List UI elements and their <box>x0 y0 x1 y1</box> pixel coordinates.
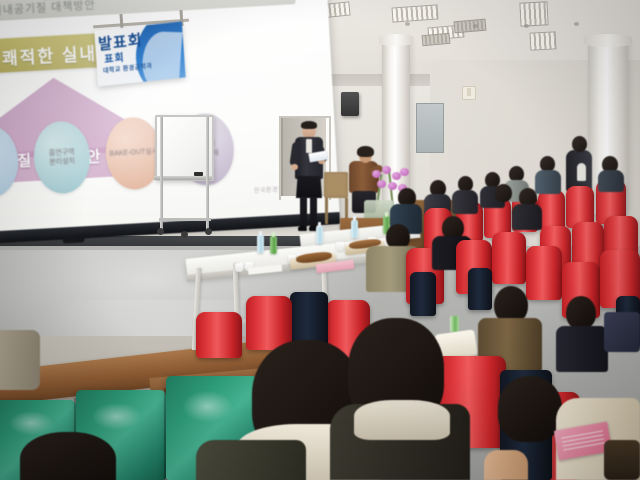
ceiling-fitting <box>524 24 529 28</box>
auditorium-photo: 실내공기질 대책방안 쾌적한 실내환경 실내공기질 대책방안 환기 시설 흡연구… <box>0 0 640 480</box>
ceiling-fitting <box>405 22 410 26</box>
attendee-head <box>566 296 596 330</box>
whiteboard-leg <box>206 117 209 229</box>
presenter-hair <box>301 121 317 129</box>
whiteboard-caster <box>157 228 164 235</box>
attendee-torso <box>452 190 478 214</box>
flyer-text-lines <box>562 430 605 451</box>
ceiling-light <box>392 4 439 22</box>
ceiling-fitting <box>473 24 478 28</box>
wall-panel <box>416 103 444 153</box>
presenter-left-hand <box>291 164 298 170</box>
standing-attendee-head <box>572 136 587 152</box>
whiteboard-caster <box>181 231 188 238</box>
drink-can <box>450 316 459 332</box>
attendee-sleeve <box>0 330 40 390</box>
slide-header-text: 실내공기질 대책방안 <box>0 0 96 18</box>
auditorium-seat <box>246 296 292 350</box>
front-attendee-coat <box>196 440 306 480</box>
attendee-dark-item <box>604 440 640 480</box>
auditorium-seat <box>492 232 526 284</box>
front-attendee-head <box>20 432 116 480</box>
sherpa-collar <box>354 400 450 440</box>
patterned-bag <box>604 312 640 352</box>
wall-banner: 발표회 표회 대학교 환경공학과 <box>94 21 185 86</box>
auditorium-seat <box>196 312 242 358</box>
presenter-shoe <box>298 226 307 231</box>
whiteboard-leg <box>160 117 163 229</box>
ceiling-fitting <box>574 22 579 26</box>
water-bottle <box>351 220 358 238</box>
standing-attendee-paper <box>577 163 586 181</box>
water-bottle <box>316 226 323 244</box>
whiteboard-crossbar <box>159 218 211 221</box>
presenter-leg <box>300 197 307 227</box>
slide-oval-3-label: BAKE-OUT실시 <box>109 147 158 159</box>
pillar-left-capital <box>379 34 413 46</box>
water-bottle <box>270 236 277 254</box>
attendee-torso <box>598 170 624 192</box>
attendee-torso <box>535 170 561 194</box>
paper-cup <box>336 242 344 251</box>
seated-attendee-hair <box>357 146 374 157</box>
wall-speaker <box>341 92 359 116</box>
attendee-head <box>495 184 512 202</box>
presenter-leg <box>310 197 317 227</box>
wall-light-switch[interactable] <box>462 86 476 100</box>
auditorium-seat-back <box>410 272 436 316</box>
auditorium-seat <box>526 246 562 300</box>
paper-cup <box>235 263 243 272</box>
attendee-torso <box>512 204 542 230</box>
auditorium-seat-back <box>468 268 492 310</box>
presenter-shirt <box>306 139 312 153</box>
slide-header-bar: 실내공기질 대책방안 <box>0 0 296 23</box>
slide-oval-2-label: 흡연구역 분리설치 <box>49 147 76 167</box>
attendee-torso <box>556 326 608 372</box>
attendee-head <box>498 376 562 442</box>
presenter-skirt <box>296 176 322 198</box>
attendee-hand <box>484 450 528 480</box>
water-bottle <box>257 235 264 253</box>
auditorium-seat <box>538 190 565 230</box>
pillar-right-capital <box>584 34 632 47</box>
whiteboard-marker <box>194 172 203 176</box>
whiteboard-caster <box>205 228 212 235</box>
ceiling-light <box>519 1 548 26</box>
ceiling-light <box>530 31 557 50</box>
